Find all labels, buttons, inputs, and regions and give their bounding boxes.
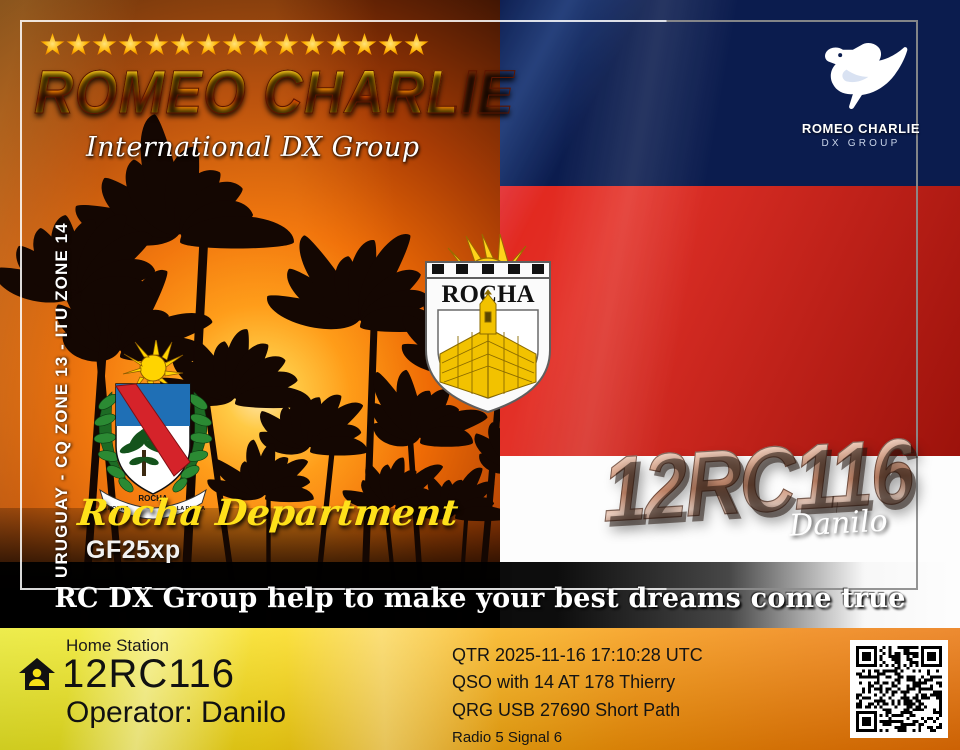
card-artwork: ROMEO CHARLIE International DX Group ROM… [0, 0, 960, 628]
star-icon [326, 33, 351, 57]
qso-line-qso: QSO with 14 AT 178 Thierry [452, 669, 703, 696]
logo-subtitle: International DX Group [34, 132, 454, 163]
department-name: Rocha Department [76, 492, 460, 534]
qr-code-icon[interactable] [850, 640, 948, 738]
info-bar: Home Station 12RC116 Operator: Danilo QT… [0, 628, 960, 750]
dove-badge: ROMEO CHARLIE DX GROUP [786, 28, 936, 149]
star-icon [352, 33, 377, 57]
star-icon [274, 33, 299, 57]
romeo-charlie-logo: ROMEO CHARLIE International DX Group [34, 32, 454, 163]
qso-details-block: QTR 2025-11-16 17:10:28 UTC QSO with 14 … [452, 642, 703, 750]
star-icon [170, 33, 195, 57]
star-row-icon [34, 32, 454, 58]
slogan-text: RC DX Group help to make your best dream… [0, 583, 960, 614]
home-operator: Operator: Danilo [18, 696, 286, 730]
qso-line-qtr: QTR 2025-11-16 17:10:28 UTC [452, 642, 703, 669]
callsign-art: 12RC116 Danilo [604, 440, 914, 546]
logo-wordmark: ROMEO CHARLIE [34, 56, 454, 128]
grid-square: GF25xp [78, 536, 458, 565]
star-icon [378, 33, 403, 57]
house-icon [18, 656, 56, 692]
star-icon [248, 33, 273, 57]
dove-icon [801, 28, 921, 114]
star-icon [300, 33, 325, 57]
star-icon [118, 33, 143, 57]
star-icon [404, 33, 429, 57]
home-station-block: Home Station 12RC116 Operator: Danilo [18, 636, 286, 730]
zone-text-label: URUGUAY - CQ ZONE 13 - ITU ZONE 14 [52, 222, 72, 578]
home-callsign-row: 12RC116 [18, 654, 286, 694]
star-icon [196, 33, 221, 57]
star-icon [40, 33, 65, 57]
qsl-card: ROMEO CHARLIE International DX Group ROM… [0, 0, 960, 750]
qso-line-signal: Radio 5 Signal 6 [452, 727, 703, 750]
qso-line-qrg: QRG USB 27690 Short Path [452, 697, 703, 724]
badge-name: ROMEO CHARLIE [786, 121, 936, 136]
department-caption: Rocha Department GF25xp [78, 492, 458, 565]
star-icon [222, 33, 247, 57]
star-icon [66, 33, 91, 57]
home-callsign: 12RC116 [62, 654, 235, 694]
qr-code-matrix [856, 646, 942, 732]
star-icon [92, 33, 117, 57]
star-icon [144, 33, 169, 57]
badge-subtitle: DX GROUP [786, 138, 936, 149]
zone-text: URUGUAY - CQ ZONE 13 - ITU ZONE 14 [30, 160, 58, 580]
rocha-coat-of-arms: ROCHA [396, 232, 580, 422]
